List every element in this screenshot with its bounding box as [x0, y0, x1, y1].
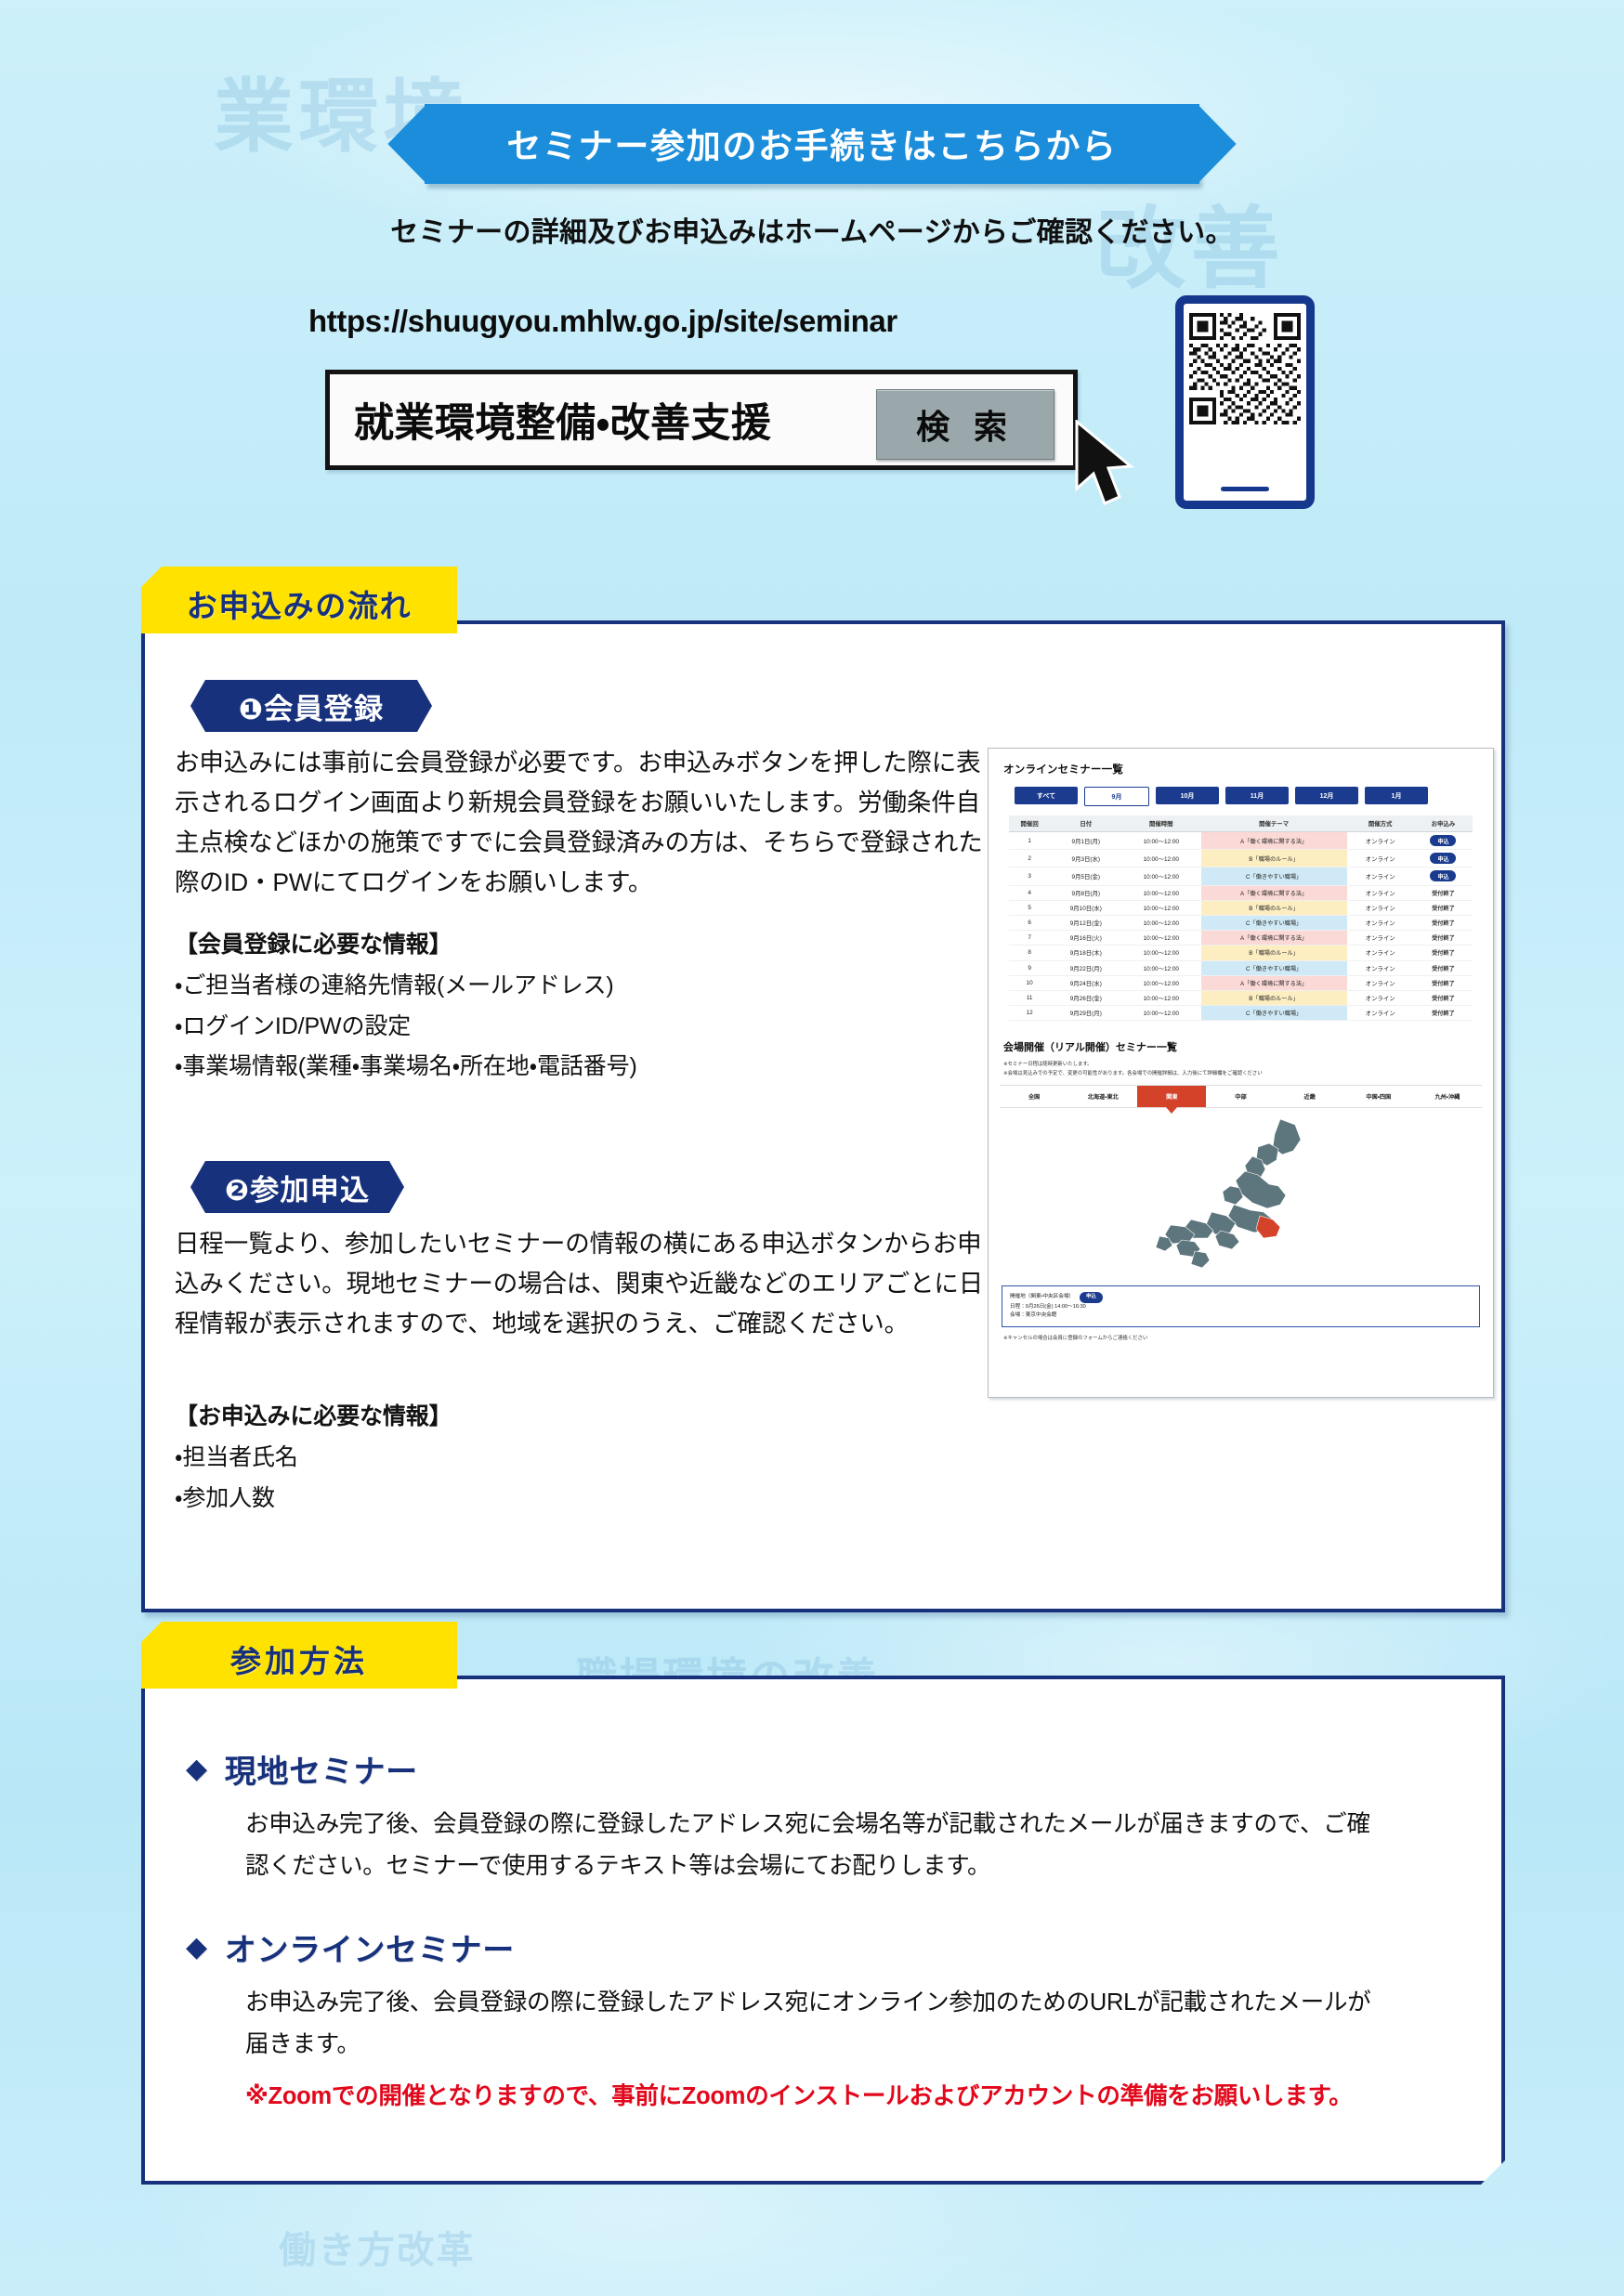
table-cell: 9月10日(水) [1051, 900, 1121, 915]
table-cell: 10:00～12:00 [1121, 885, 1201, 900]
table-cell: 9月3日(水) [1051, 850, 1121, 868]
table-cell: 10:00～12:00 [1121, 832, 1201, 850]
table-cell: オンライン [1347, 960, 1414, 975]
table-row: 79月16日(火)10:00～12:00A「働く環境に関する法」オンライン受付終… [1009, 931, 1473, 946]
month-pill-3[interactable]: 11月 [1225, 787, 1289, 804]
page-title-banner: セミナー参加のお手続きはこちらから [425, 104, 1198, 184]
table-cell: オンライン [1347, 832, 1414, 850]
table-cell: 10:00～12:00 [1121, 990, 1201, 1005]
apply-button[interactable]: 申込 [1430, 835, 1456, 846]
venue-note-2: ※会場は見込みでの予定で、変更の可能性があります。各会場での開催詳細は、入力後に… [1003, 1070, 1493, 1077]
month-filter-pills[interactable]: すべて9月10月11月12月1月 [1015, 787, 1493, 806]
join-item-body-onsite: お申込み完了後、会員登録の際に登録したアドレス宛に会場名等が記載されたメールが届… [245, 1804, 1388, 1888]
table-cell: 3 [1009, 868, 1051, 885]
table-header-3: 開催テーマ [1201, 815, 1347, 832]
venue-detail-box: 開催地（関東・中央区会場） 申込 日程：9月26日(金) 14:00～16:30… [1002, 1285, 1480, 1326]
closed-label: 受付終了 [1432, 906, 1455, 912]
step-1-body: お申込みには事前に会員登録が必要です。お申込みボタンを押した際に表示されるログイ… [175, 743, 992, 903]
table-cell: B「職場のルール」 [1201, 900, 1347, 915]
table-cell: A「働く環境に関する法」 [1201, 931, 1347, 946]
list-item: ・ログインID/PWの設定 [175, 1007, 637, 1048]
table-cell: オンライン [1347, 946, 1414, 960]
table-cell: 5 [1009, 900, 1051, 915]
table-cell: オンライン [1347, 1006, 1414, 1021]
search-button[interactable]: 検 索 [876, 389, 1054, 460]
region-tab-6[interactable]: 九州・沖縄 [1413, 1086, 1482, 1107]
table-cell: 10:00～12:00 [1121, 946, 1201, 960]
table-cell: 9月8日(月) [1051, 885, 1121, 900]
table-cell: オンライン [1347, 931, 1414, 946]
table-header-2: 開催時間 [1121, 815, 1201, 832]
month-pill-1[interactable]: 9月 [1084, 787, 1149, 806]
table-cell: 9月26日(金) [1051, 990, 1121, 1005]
join-item-title-online: ◆ オンラインセミナー [186, 1924, 515, 1970]
qr-code-icon [1189, 313, 1301, 424]
region-tab-2[interactable]: 関東 [1137, 1086, 1206, 1107]
website-url[interactable]: https://shuugyou.mhlw.go.jp/site/seminar [308, 304, 897, 339]
table-row: 69月12日(金)10:00～12:00C「働きやすい職場」オンライン受付終了 [1009, 915, 1473, 930]
table-row: 29月3日(水)10:00～12:00B「職場のルール」オンライン申込 [1009, 850, 1473, 868]
table-cell: B「職場のルール」 [1201, 990, 1347, 1005]
closed-label: 受付終了 [1432, 950, 1455, 957]
japan-map[interactable] [989, 1115, 1493, 1278]
table-cell-action[interactable]: 申込 [1414, 832, 1473, 850]
table-cell: オンライン [1347, 868, 1414, 885]
step-2-list-heading: 【お申込みに必要な情報】 [175, 1397, 452, 1438]
table-cell-action[interactable]: 申込 [1414, 850, 1473, 868]
table-cell-action: 受付終了 [1414, 990, 1473, 1005]
zoom-warning-note: ※Zoomでの開催となりますので、事前にZoomのインストールおよびアカウントの… [245, 2076, 1388, 2118]
diamond-bullet-icon: ◆ [186, 1934, 208, 1962]
table-cell: 9月5日(金) [1051, 868, 1121, 885]
region-tab-1[interactable]: 北海道・東北 [1068, 1086, 1137, 1107]
table-row: 99月22日(月)10:00～12:00C「働きやすい職場」オンライン受付終了 [1009, 960, 1473, 975]
region-tab-0[interactable]: 全国 [1000, 1086, 1068, 1107]
table-cell: B「職場のルール」 [1201, 946, 1347, 960]
closed-label: 受付終了 [1432, 981, 1455, 987]
table-cell: A「働く環境に関する法」 [1201, 975, 1347, 990]
step-1-list: 【会員登録に必要な情報】 ・ご担当者様の連絡先情報(メールアドレス) ・ログイン… [175, 925, 637, 1088]
table-cell: 1 [1009, 832, 1051, 850]
join-item-title-onsite: ◆ 現地セミナー [186, 1746, 418, 1792]
table-cell: オンライン [1347, 975, 1414, 990]
table-cell: 9月12日(金) [1051, 915, 1121, 930]
month-pill-5[interactable]: 1月 [1365, 787, 1428, 804]
table-cell: オンライン [1347, 915, 1414, 930]
table-cell-action[interactable]: 申込 [1414, 868, 1473, 885]
table-cell: 10:00～12:00 [1121, 850, 1201, 868]
smartphone-illustration [1175, 295, 1315, 509]
table-cell: オンライン [1347, 850, 1414, 868]
list-item: ・事業場情報(業種・事業場名・所在地・電話番号) [175, 1047, 637, 1088]
table-cell: オンライン [1347, 885, 1414, 900]
table-row: 49月8日(月)10:00～12:00A「働く環境に関する法」オンライン受付終了 [1009, 885, 1473, 900]
step-2-badge: ❷参加申込 [190, 1161, 404, 1213]
table-row: 89月18日(木)10:00～12:00B「職場のルール」オンライン受付終了 [1009, 946, 1473, 960]
table-header-0: 開催回 [1009, 815, 1051, 832]
mouse-cursor-icon [1073, 420, 1153, 509]
table-cell: オンライン [1347, 990, 1414, 1005]
venue-detail-line: 会場：東京中央会館 [1010, 1311, 1472, 1321]
table-cell: 10:00～12:00 [1121, 975, 1201, 990]
table-cell: 8 [1009, 946, 1051, 960]
venue-apply-chip[interactable]: 申込 [1080, 1292, 1103, 1302]
diamond-bullet-icon: ◆ [186, 1755, 208, 1783]
table-cell-action: 受付終了 [1414, 885, 1473, 900]
venue-detail-header: 開催地（関東・中央区会場） 申込 [1010, 1292, 1472, 1302]
region-tab-3[interactable]: 中部 [1206, 1086, 1275, 1107]
table-cell-action: 受付終了 [1414, 946, 1473, 960]
table-cell: C「働きやすい職場」 [1201, 868, 1347, 885]
step-1-badge: ❶会員登録 [190, 680, 432, 732]
ghost-text-4: 働き方改革 [279, 2220, 476, 2274]
subtitle: セミナーの詳細及びお申込みはホームページからご確認ください。 [0, 209, 1624, 250]
search-keyword: 就業環境整備・改善支援 [354, 391, 771, 449]
join-title-text: 現地セミナー [225, 1746, 418, 1792]
table-cell: 10:00～12:00 [1121, 1006, 1201, 1021]
table-cell: 7 [1009, 931, 1051, 946]
closed-label: 受付終了 [1432, 996, 1455, 1002]
table-cell: 6 [1009, 915, 1051, 930]
closed-label: 受付終了 [1432, 935, 1455, 942]
venue-note-1: ※セミナー日程は随時更新いたします。 [1003, 1061, 1493, 1068]
venue-detail-line: 日程：9月26日(金) 14:00～16:30 [1010, 1303, 1472, 1312]
table-cell: B「職場のルール」 [1201, 850, 1347, 868]
table-cell-action: 受付終了 [1414, 1006, 1473, 1021]
table-cell: A「働く環境に関する法」 [1201, 832, 1347, 850]
table-row: 19月1日(月)10:00～12:00A「働く環境に関する法」オンライン申込 [1009, 832, 1473, 850]
list-item: ・ご担当者様の連絡先情報(メールアドレス) [175, 966, 637, 1007]
table-cell: 9月1日(月) [1051, 832, 1121, 850]
section-tab-join: 参加方法 [141, 1622, 457, 1689]
step-2-body: 日程一覧より、参加したいセミナーの情報の横にある申込ボタンからお申込みください。… [175, 1224, 992, 1344]
table-cell: 9月29日(月) [1051, 1006, 1121, 1021]
screenshot-online-title: オンラインセミナー一覧 [1003, 762, 1493, 776]
closed-label: 受付終了 [1432, 920, 1455, 927]
table-cell: 10:00～12:00 [1121, 931, 1201, 946]
table-cell: 10:00～12:00 [1121, 960, 1201, 975]
website-screenshot: オンラインセミナー一覧 すべて9月10月11月12月1月 開催回日付開催時間開催… [988, 748, 1494, 1398]
table-cell: 9月22日(月) [1051, 960, 1121, 975]
join-title-text: オンラインセミナー [225, 1924, 515, 1970]
month-pill-0[interactable]: すべて [1015, 787, 1078, 804]
table-cell-action: 受付終了 [1414, 931, 1473, 946]
list-item: ・参加人数 [175, 1479, 452, 1520]
table-cell: 10:00～12:00 [1121, 915, 1201, 930]
list-item: ・担当者氏名 [175, 1438, 452, 1479]
search-box[interactable]: 就業環境整備・改善支援 検 索 [325, 370, 1078, 470]
region-tab-5[interactable]: 中国・四国 [1344, 1086, 1413, 1107]
table-cell: 10:00～12:00 [1121, 900, 1201, 915]
table-cell: 4 [1009, 885, 1051, 900]
join-item-body-online: お申込み完了後、会員登録の際に登録したアドレス宛にオンライン参加のためのURLが… [245, 1982, 1388, 2118]
table-cell: 12 [1009, 1006, 1051, 1021]
venue-detail-title: 開催地（関東・中央区会場） [1010, 1293, 1074, 1302]
table-cell: C「働きやすい職場」 [1201, 960, 1347, 975]
online-seminar-table: 開催回日付開催時間開催テーマ開催方式お申込み 19月1日(月)10:00～12:… [1009, 815, 1473, 1021]
step-1-list-heading: 【会員登録に必要な情報】 [175, 925, 637, 966]
table-row: 119月26日(金)10:00～12:00B「職場のルール」オンライン受付終了 [1009, 990, 1473, 1005]
banner-row: セミナー参加のお手続きはこちらから [0, 104, 1624, 184]
screenshot-venue-title: 会場開催（リアル開催）セミナー一覧 [1003, 1039, 1493, 1054]
table-cell: 10:00～12:00 [1121, 868, 1201, 885]
step-2-list: 【お申込みに必要な情報】 ・担当者氏名 ・参加人数 [175, 1397, 452, 1519]
apply-button[interactable]: 申込 [1430, 853, 1456, 864]
table-cell-action: 受付終了 [1414, 915, 1473, 930]
apply-button[interactable]: 申込 [1430, 870, 1456, 881]
table-cell: オンライン [1347, 900, 1414, 915]
table-cell-action: 受付終了 [1414, 960, 1473, 975]
closed-label: 受付終了 [1432, 1011, 1455, 1017]
table-row: 109月24日(水)10:00～12:00A「働く環境に関する法」オンライン受付… [1009, 975, 1473, 990]
table-header-1: 日付 [1051, 815, 1121, 832]
table-row: 39月5日(金)10:00～12:00C「働きやすい職場」オンライン申込 [1009, 868, 1473, 885]
month-pill-4[interactable]: 12月 [1295, 787, 1358, 804]
table-row: 59月10日(水)10:00～12:00B「職場のルール」オンライン受付終了 [1009, 900, 1473, 915]
closed-label: 受付終了 [1432, 891, 1455, 897]
region-tab-4[interactable]: 近畿 [1276, 1086, 1344, 1107]
table-row: 129月29日(月)10:00～12:00C「働きやすい職場」オンライン受付終了 [1009, 1006, 1473, 1021]
table-cell: 9月18日(木) [1051, 946, 1121, 960]
table-cell: 9月16日(火) [1051, 931, 1121, 946]
phone-home-bar [1221, 487, 1269, 491]
table-cell: 2 [1009, 850, 1051, 868]
japan-map-icon [1141, 1115, 1341, 1278]
table-cell: 9 [1009, 960, 1051, 975]
table-cell: A「働く環境に関する法」 [1201, 885, 1347, 900]
table-cell: C「働きやすい職場」 [1201, 1006, 1347, 1021]
section-tab-flow: お申込みの流れ [141, 567, 457, 633]
table-cell: C「働きやすい職場」 [1201, 915, 1347, 930]
table-cell: 11 [1009, 990, 1051, 1005]
table-header-5: お申込み [1414, 815, 1473, 832]
table-cell: 9月24日(水) [1051, 975, 1121, 990]
section-tab-flow-label: お申込みの流れ [141, 581, 457, 626]
venue-detail-footnote: ※キャンセルの場合は会員に登録のフォームからご連絡ください [1003, 1334, 1493, 1341]
closed-label: 受付終了 [1432, 966, 1455, 972]
table-cell-action: 受付終了 [1414, 900, 1473, 915]
region-tabs[interactable]: 全国北海道・東北関東中部近畿中国・四国九州・沖縄 [1000, 1085, 1482, 1108]
table-header-4: 開催方式 [1347, 815, 1414, 832]
table-cell: 10 [1009, 975, 1051, 990]
section-tab-join-label: 参加方法 [141, 1637, 457, 1681]
table-cell-action: 受付終了 [1414, 975, 1473, 990]
month-pill-2[interactable]: 10月 [1156, 787, 1219, 804]
join-body-text: お申込み完了後、会員登録の際に登録したアドレス宛にオンライン参加のためのURLが… [245, 1982, 1388, 2067]
